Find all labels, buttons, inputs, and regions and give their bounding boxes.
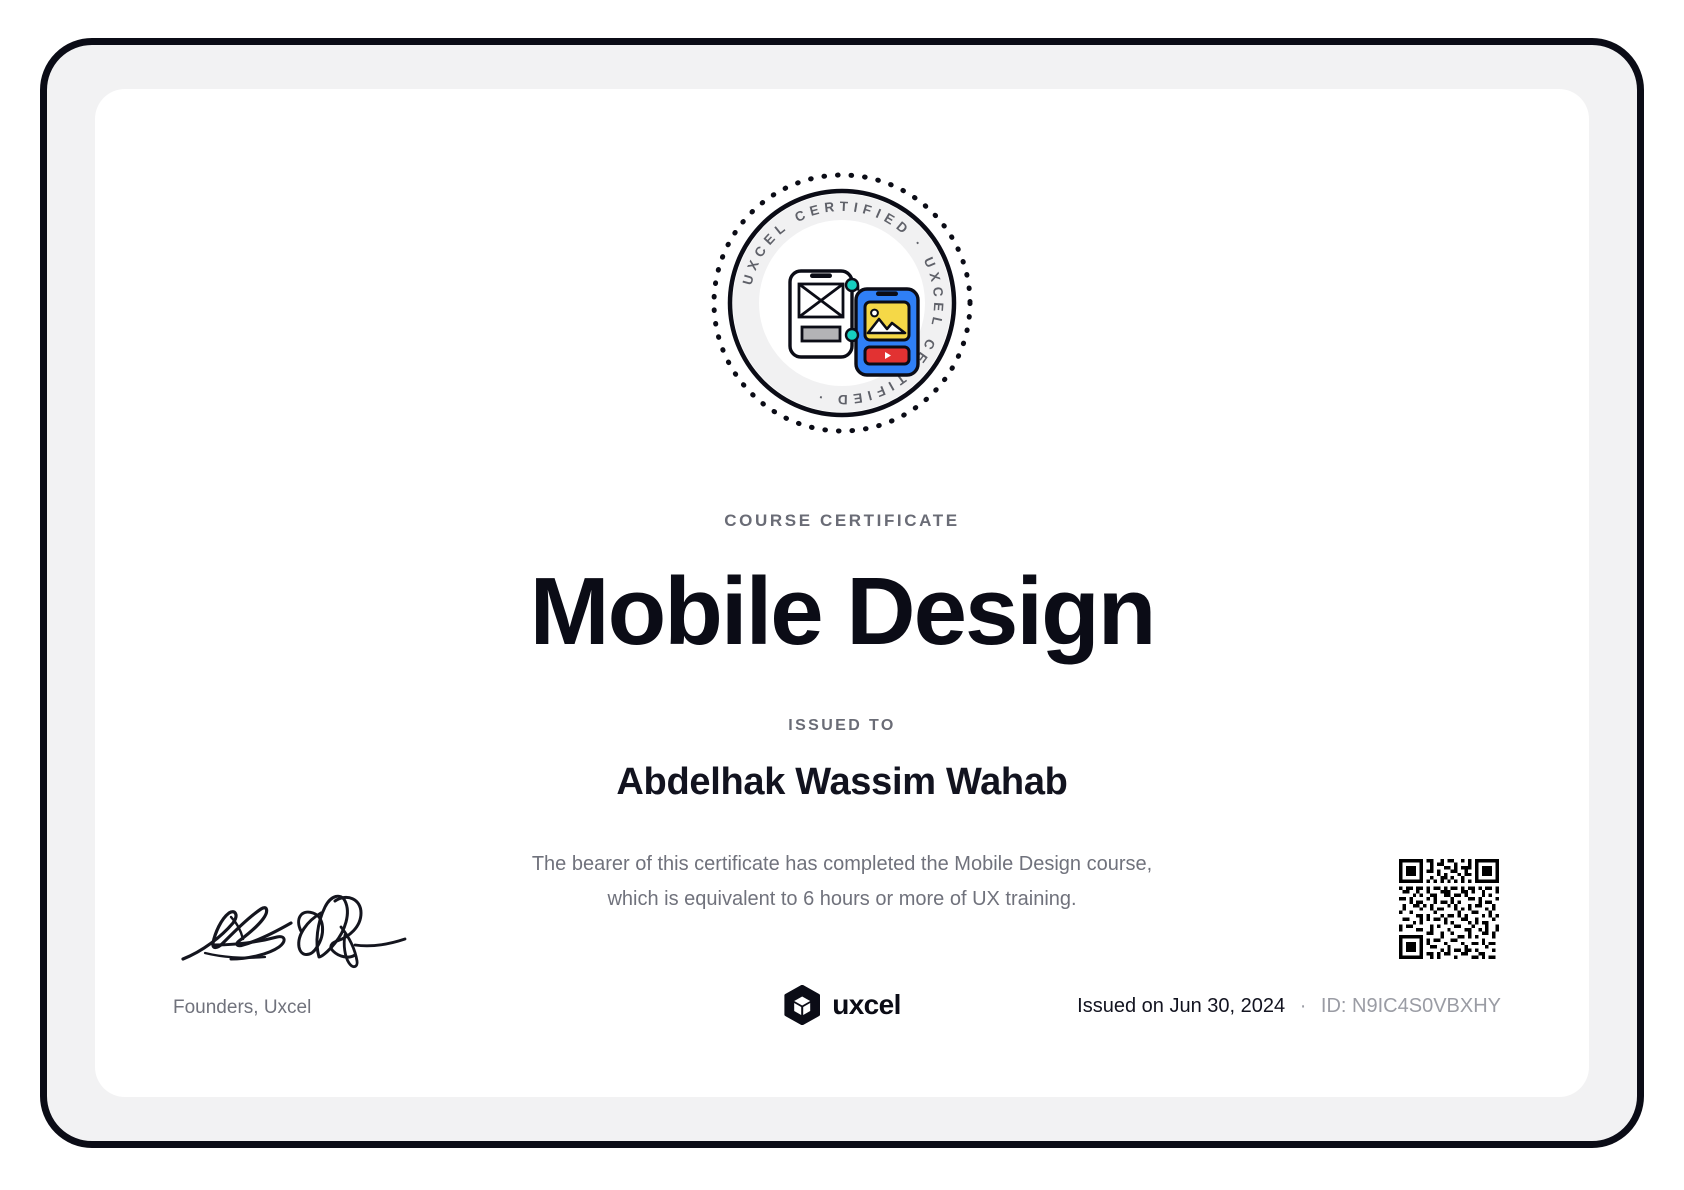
recipient-name: Abdelhak Wassim Wahab [95, 761, 1589, 804]
uxcel-brand-lockup: uxcel [783, 985, 901, 1025]
description-line-2: which is equivalent to 6 hours or more o… [392, 882, 1292, 917]
certificate-id: ID: N9IC4S0VBXHY [1321, 995, 1501, 1017]
wireframe-phone [790, 271, 852, 357]
course-title: Mobile Design [95, 557, 1589, 667]
founders-label: Founders, Uxcel [173, 997, 311, 1019]
metadata-separator: · [1291, 995, 1316, 1017]
ui-phone [856, 289, 918, 375]
uxcel-wordmark: uxcel [832, 989, 901, 1021]
certificate-type-label: COURSE CERTIFICATE [95, 511, 1589, 531]
description-line-1: The bearer of this certificate has compl… [392, 847, 1292, 882]
issue-date: Issued on Jun 30, 2024 [1077, 995, 1285, 1017]
verification-qr-code[interactable] [1399, 859, 1499, 959]
certificate-description: The bearer of this certificate has compl… [392, 847, 1292, 917]
connector-dot-bottom [846, 329, 858, 341]
uxcel-certified-seal: UXCEL CERTIFIED · UXCEL CERTIFIED · [706, 167, 978, 439]
certificate-card: UXCEL CERTIFIED · UXCEL CERTIFIED · [95, 89, 1589, 1097]
founder-signatures [173, 887, 493, 977]
certificate-frame: UXCEL CERTIFIED · UXCEL CERTIFIED · [40, 38, 1644, 1148]
uxcel-cube-logo-icon [783, 985, 821, 1025]
connector-dot-top [846, 279, 858, 291]
issued-to-label: ISSUED TO [95, 717, 1589, 735]
issue-metadata-line: Issued on Jun 30, 2024 · ID: N9IC4S0VBXH… [1077, 995, 1501, 1018]
